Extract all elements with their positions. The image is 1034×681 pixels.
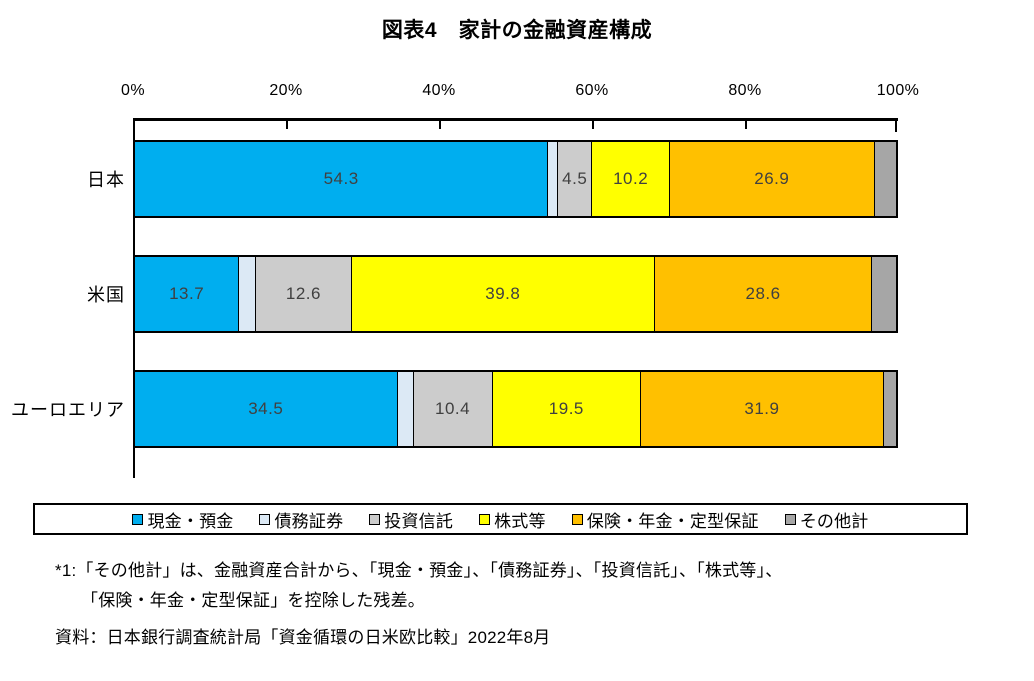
bar-segment: 12.6 [256, 257, 352, 331]
bar-segment: 10.2 [592, 142, 670, 216]
category-label-1: 米国 [0, 281, 125, 307]
x-tick-label-0: 0% [121, 82, 145, 100]
legend-label: 現金・預金 [147, 507, 233, 532]
axis-tick-20 [286, 118, 288, 129]
axis-tick-100 [895, 118, 897, 132]
x-axis-line [133, 118, 898, 121]
footnotes: *1:「その他計」は、金融資産合計から、「現金・預金」、「債務証券」、「投資信託… [55, 556, 1015, 653]
bar-segment: 39.8 [352, 257, 655, 331]
bar-value-label: 31.9 [744, 399, 779, 419]
source-note: 資料：日本銀行調査統計局「資金循環の日米欧比較」2022年8月 [55, 623, 1015, 653]
legend-label: 株式等 [494, 507, 546, 532]
bar-row-1: 13.712.639.828.6 [133, 255, 898, 333]
axis-tick-40 [439, 118, 441, 129]
bar-segment: 28.6 [655, 257, 873, 331]
legend-item-5: その他計 [785, 507, 869, 532]
bar-value-label: 54.3 [324, 169, 359, 189]
legend-swatch-icon [572, 514, 583, 525]
bar-value-label: 4.5 [562, 169, 587, 189]
bar-row-0: 54.34.510.226.9 [133, 140, 898, 218]
x-tick-label-40: 40% [422, 82, 455, 100]
bar-segment [884, 372, 896, 446]
bar-value-label: 13.7 [169, 284, 204, 304]
bar-segment: 13.7 [135, 257, 239, 331]
legend-label: 債務証券 [274, 507, 343, 532]
footnote-1-line-2: 「保険・年金・定型保証」を控除した残差。 [55, 586, 1015, 616]
x-tick-label-80: 80% [728, 82, 761, 100]
legend-swatch-icon [785, 514, 796, 525]
bar-value-label: 10.2 [613, 169, 648, 189]
bar-segment: 54.3 [135, 142, 548, 216]
bar-segment [875, 142, 896, 216]
axis-tick-80 [745, 118, 747, 129]
legend-swatch-icon [132, 514, 143, 525]
bar-segment: 19.5 [493, 372, 641, 446]
legend-swatch-icon [369, 514, 380, 525]
legend-label: 投資信託 [384, 507, 453, 532]
axis-tick-0 [133, 118, 135, 132]
category-label-2: ユーロエリア [0, 396, 125, 422]
legend-item-3: 株式等 [479, 507, 546, 532]
legend-label: 保険・年金・定型保証 [587, 507, 759, 532]
bar-value-label: 10.4 [435, 399, 470, 419]
chart-legend: 現金・預金債務証券投資信託株式等保険・年金・定型保証その他計 [33, 503, 968, 535]
bar-segment: 34.5 [135, 372, 398, 446]
x-tick-label-100: 100% [877, 82, 920, 100]
page-title: 図表4 家計の金融資産構成 [0, 14, 1034, 44]
bar-row-2: 34.510.419.531.9 [133, 370, 898, 448]
legend-item-0: 現金・預金 [132, 507, 233, 532]
bar-segment: 10.4 [414, 372, 493, 446]
x-tick-label-20: 20% [269, 82, 302, 100]
bar-value-label: 12.6 [286, 284, 321, 304]
bar-segment [398, 372, 414, 446]
legend-swatch-icon [479, 514, 490, 525]
category-label-0: 日本 [0, 166, 125, 192]
footnote-1-line-1: *1:「その他計」は、金融資産合計から、「現金・預金」、「債務証券」、「投資信託… [55, 556, 1015, 586]
bar-value-label: 19.5 [549, 399, 584, 419]
bar-value-label: 39.8 [485, 284, 520, 304]
axis-tick-60 [592, 118, 594, 129]
bar-segment [872, 257, 896, 331]
legend-swatch-icon [259, 514, 270, 525]
bar-segment: 31.9 [641, 372, 884, 446]
legend-item-2: 投資信託 [369, 507, 453, 532]
bar-segment: 4.5 [558, 142, 592, 216]
bar-segment [548, 142, 558, 216]
legend-label: その他計 [800, 507, 869, 532]
legend-item-1: 債務証券 [259, 507, 343, 532]
bar-segment: 26.9 [670, 142, 875, 216]
bar-value-label: 34.5 [248, 399, 283, 419]
bar-value-label: 28.6 [746, 284, 781, 304]
bar-value-label: 26.9 [754, 169, 789, 189]
legend-item-4: 保険・年金・定型保証 [572, 507, 759, 532]
x-tick-label-60: 60% [575, 82, 608, 100]
bar-segment [239, 257, 256, 331]
